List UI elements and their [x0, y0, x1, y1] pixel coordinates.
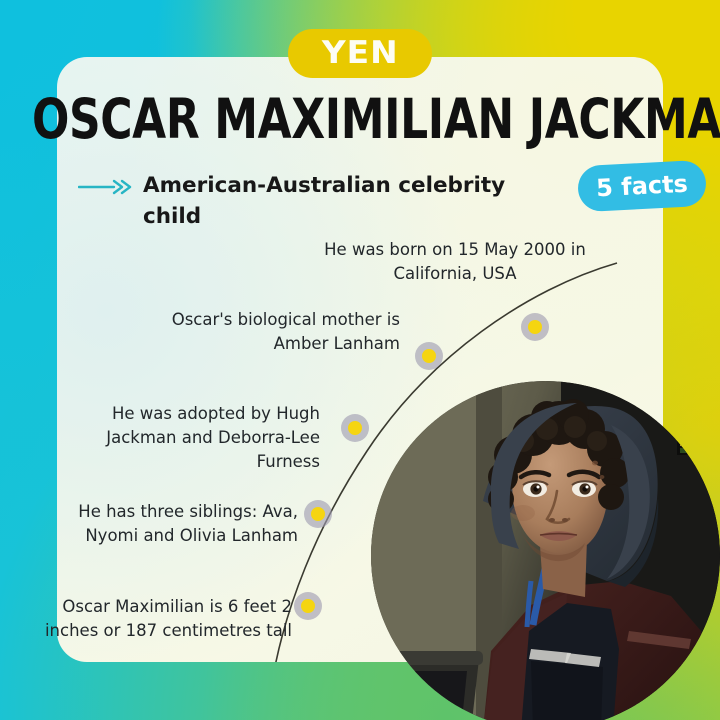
- infographic-root: OSCAR MAXIMILIAN JACKMAN American-Austra…: [0, 0, 720, 720]
- fact-item-5: Oscar Maximilian is 6 feet 2 inches or 1…: [30, 595, 292, 643]
- page-title: OSCAR MAXIMILIAN JACKMAN: [32, 92, 688, 147]
- subtitle-row: American-Australian celebrity child: [78, 170, 528, 232]
- double-chevron-right-arrow-icon: [78, 179, 134, 200]
- timeline-dot-1: [521, 313, 549, 341]
- fact-item-4: He has three siblings: Ava, Nyomi and Ol…: [50, 500, 298, 548]
- page-subtitle: American-Australian celebrity child: [143, 170, 515, 232]
- fact-item-1: He was born on 15 May 2000 in California…: [300, 238, 610, 286]
- facts-count-badge: 5 facts: [577, 160, 707, 213]
- timeline-dot-5: [294, 592, 322, 620]
- yen-logo-text: YEN: [322, 38, 399, 69]
- portrait-photo-illustration: [371, 381, 720, 720]
- portrait-photo: [371, 381, 720, 720]
- fact-item-3: He was adopted by Hugh Jackman and Debor…: [80, 402, 320, 474]
- yen-logo-badge: YEN: [288, 29, 432, 78]
- timeline-dot-4: [304, 500, 332, 528]
- fact-item-2: Oscar's biological mother is Amber Lanha…: [130, 308, 400, 356]
- facts-count-label: 5 facts: [596, 172, 689, 201]
- timeline-dot-2: [415, 342, 443, 370]
- timeline-dot-3: [341, 414, 369, 442]
